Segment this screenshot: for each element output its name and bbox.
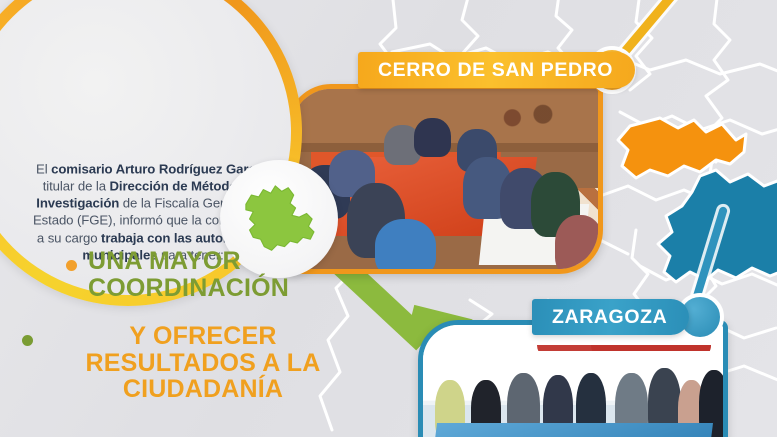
bullet-label-2: Y OFRECER RESULTADOS A LA CIUDADANÍA (44, 323, 362, 403)
list-item: UNA MAYOR COORDINACIÓN (8, 248, 400, 301)
photo-cerro-de-san-pedro (287, 84, 603, 274)
photo-zaragoza (418, 320, 728, 437)
label-cerro-text: CERRO DE SAN PEDRO (378, 59, 613, 82)
photo-person (555, 215, 603, 274)
list-item: Y OFRECER RESULTADOS A LA CIUDADANÍA (8, 323, 400, 403)
infographic-canvas: CERRO DE SAN PEDRO ZARAGOZA El comisario… (0, 0, 777, 437)
photo-person (414, 118, 451, 158)
bullet-dot-icon (22, 335, 33, 346)
label-zaragoza[interactable]: ZARAGOZA (532, 299, 689, 335)
bullet-list: UNA MAYOR COORDINACIÓN Y OFRECER RESULTA… (8, 248, 400, 425)
label-zaragoza-text: ZARAGOZA (552, 306, 667, 329)
bullet-label-1: UNA MAYOR COORDINACIÓN (88, 248, 400, 301)
label-cerro-de-san-pedro[interactable]: CERRO DE SAN PEDRO (358, 52, 635, 88)
photo-zaragoza-table (433, 423, 713, 437)
quote-segment: El (36, 162, 51, 177)
bullet-dot-icon (66, 260, 77, 271)
municipality-cerro-de-san-pedro (618, 118, 746, 178)
